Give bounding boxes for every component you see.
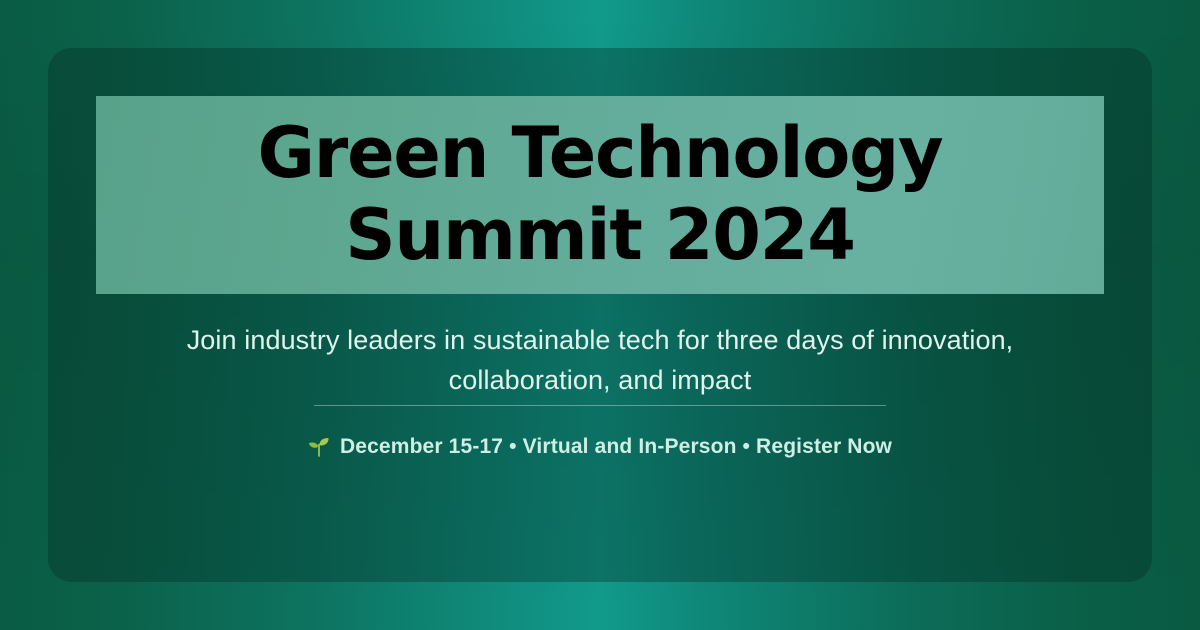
event-meta-text: December 15-17 • Virtual and In-Person •… — [340, 436, 892, 457]
subtitle-text: Join industry leaders in sustainable tec… — [96, 320, 1104, 400]
event-meta: December 15-17 • Virtual and In-Person •… — [96, 434, 1104, 458]
divider — [314, 405, 886, 406]
page-title: Green Technology Summit 2024 — [96, 113, 1104, 277]
title-banner: Green Technology Summit 2024 — [96, 96, 1104, 294]
seedling-icon — [308, 434, 330, 458]
poster-card: Green Technology Summit 2024 Join indust… — [48, 48, 1152, 582]
event-poster: Green Technology Summit 2024 Join indust… — [0, 0, 1200, 630]
